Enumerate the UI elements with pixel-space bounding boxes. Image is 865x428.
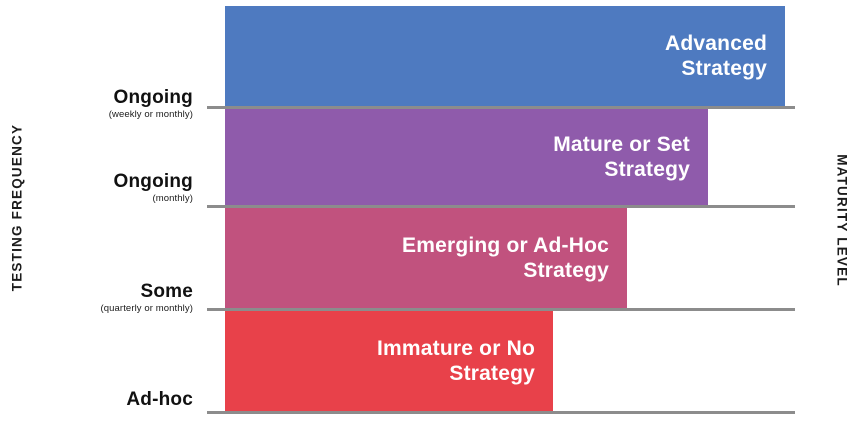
tick-main-text: Ongoing — [7, 88, 193, 108]
tick-label-some: Some (quarterly or monthly) — [7, 282, 207, 314]
tick-label-ongoing-monthly: Ongoing (monthly) — [7, 172, 207, 204]
tick-sub-text: (weekly or monthly) — [7, 109, 193, 120]
bar-advanced-strategy[interactable]: Advanced Strategy — [225, 6, 785, 108]
gridline-ongoing-monthly — [207, 205, 795, 208]
tick-label-ongoing-weekly: Ongoing (weekly or monthly) — [7, 88, 207, 120]
gridline-some — [207, 308, 795, 311]
maturity-testing-frequency-chart: TESTING FREQUENCY MATURITY LEVEL Ongoing… — [0, 0, 865, 428]
tick-main-text: Some — [7, 282, 193, 302]
tick-main-text: Ongoing — [7, 172, 193, 192]
tick-sub-text: (monthly) — [7, 193, 193, 204]
bar-emerging-or-adhoc-strategy[interactable]: Emerging or Ad-Hoc Strategy — [225, 207, 627, 310]
bar-label: Advanced Strategy — [665, 32, 785, 82]
bar-immature-or-no-strategy[interactable]: Immature or No Strategy — [225, 310, 553, 413]
bar-label: Emerging or Ad-Hoc Strategy — [402, 234, 627, 284]
gridline-ad-hoc — [207, 411, 795, 414]
bar-mature-or-set-strategy[interactable]: Mature or Set Strategy — [225, 108, 708, 207]
plot-area: Advanced Strategy Mature or Set Strategy… — [225, 0, 795, 428]
right-axis-title: MATURITY LEVEL — [835, 136, 850, 306]
tick-label-ad-hoc: Ad-hoc — [7, 390, 207, 411]
gridline-ongoing-weekly — [207, 106, 795, 109]
y-axis-tick-labels: Ongoing (weekly or monthly) Ongoing (mon… — [0, 0, 207, 428]
tick-main-text: Ad-hoc — [7, 390, 193, 410]
bar-label: Immature or No Strategy — [377, 337, 553, 387]
bar-label: Mature or Set Strategy — [553, 133, 708, 183]
tick-sub-text: (quarterly or monthly) — [7, 303, 193, 314]
